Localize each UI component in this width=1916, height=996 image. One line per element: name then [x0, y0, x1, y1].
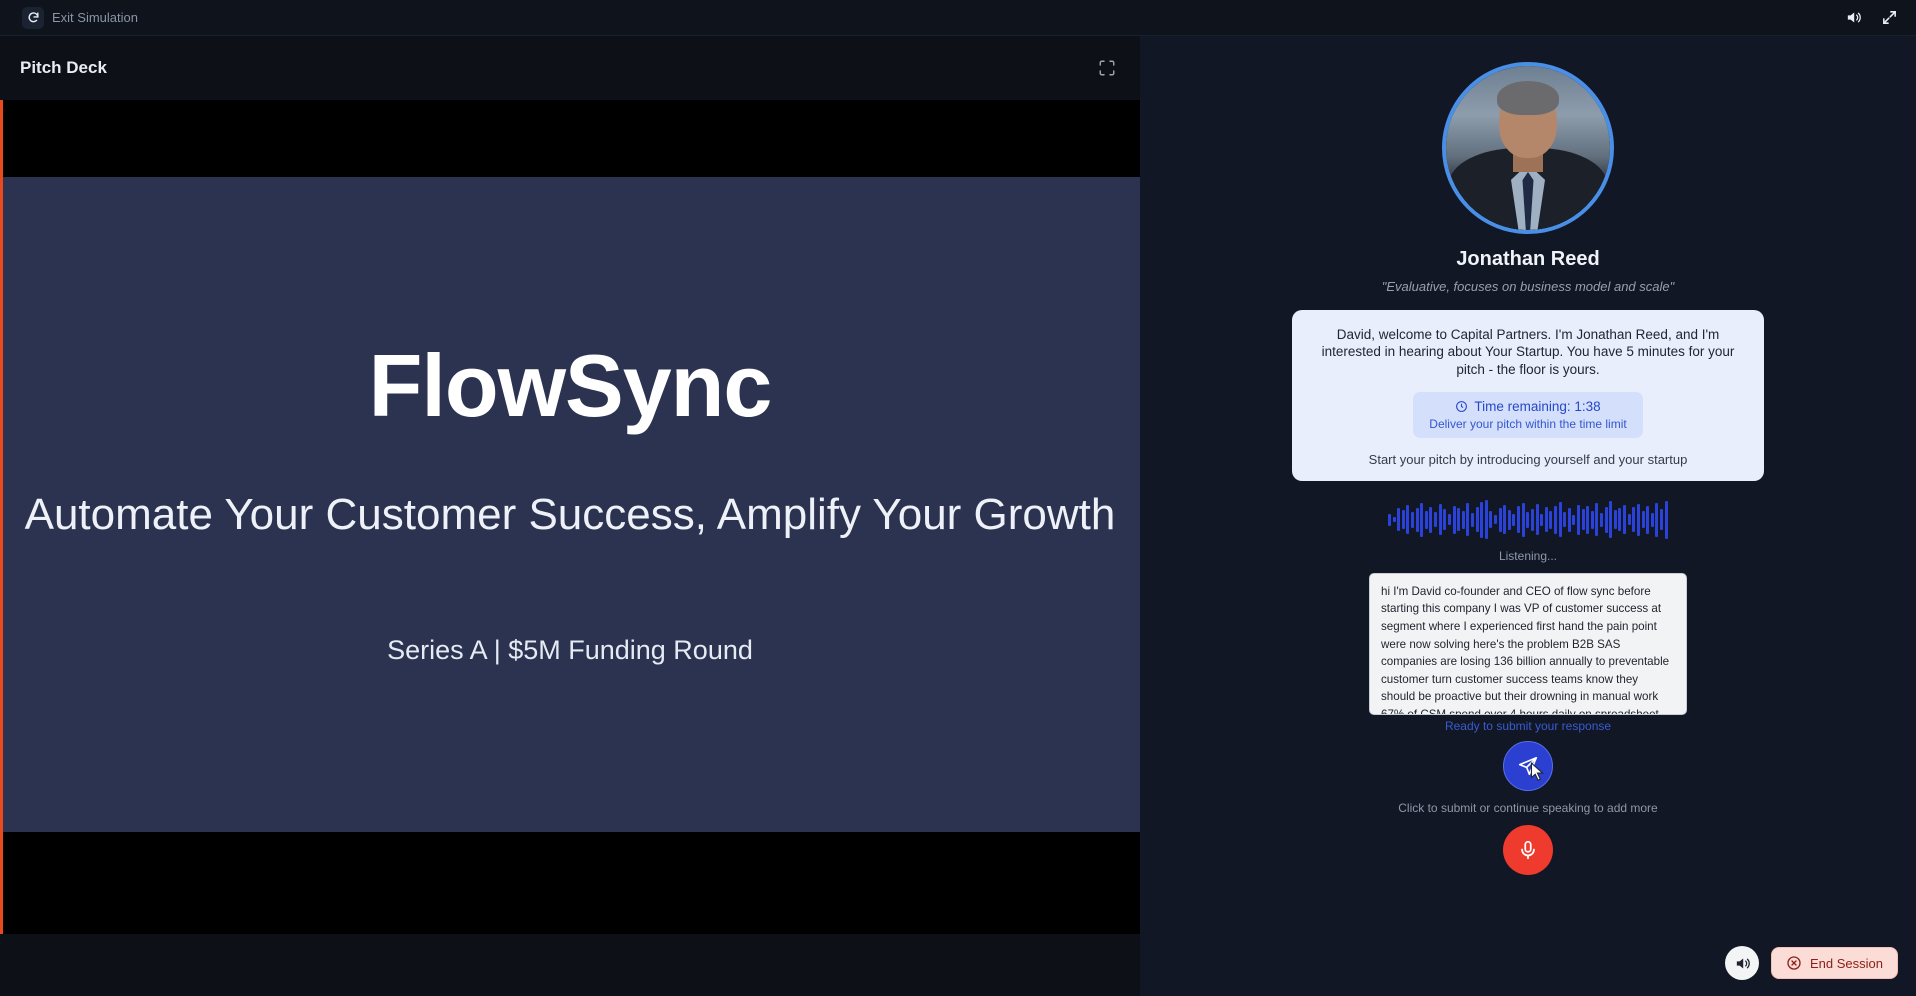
waveform-bar [1453, 506, 1456, 534]
waveform-bar [1591, 511, 1594, 529]
waveform-bar [1618, 508, 1621, 531]
waveform-bar [1485, 500, 1488, 539]
pitch-deck-header: Pitch Deck [0, 36, 1140, 100]
top-bar: Exit Simulation [0, 0, 1916, 36]
waveform-bar [1489, 511, 1492, 528]
waveform-bar [1660, 509, 1663, 530]
waveform-bar [1462, 511, 1465, 529]
waveform-bar [1572, 515, 1575, 525]
listening-status: Listening... [1499, 549, 1557, 563]
waveform-bar [1549, 511, 1552, 529]
slide-footer: Series A | $5M Funding Round [387, 635, 753, 666]
waveform-bar [1406, 505, 1409, 534]
waveform-bar [1531, 509, 1534, 531]
speaker-button[interactable] [1725, 946, 1759, 980]
waveform-bar [1540, 514, 1543, 526]
waveform-bar [1388, 514, 1391, 527]
waveform-bar [1642, 511, 1645, 528]
waveform-bar [1476, 507, 1479, 532]
waveform-bar [1559, 502, 1562, 537]
waveform-bar [1411, 512, 1414, 528]
interviewer-message: David, welcome to Capital Partners. I'm … [1312, 326, 1744, 378]
waveform-bar [1595, 503, 1598, 536]
slide-canvas: FlowSync Automate Your Customer Success,… [0, 177, 1140, 832]
waveform-bar [1614, 510, 1617, 529]
waveform-bar [1420, 503, 1423, 537]
waveform-bar [1623, 505, 1626, 534]
waveform-bar [1429, 507, 1432, 533]
slide-title: FlowSync [369, 342, 772, 430]
waveform-bar [1545, 507, 1548, 532]
waveform-bar [1605, 507, 1608, 533]
waveform-bar [1637, 504, 1640, 536]
waveform-bar [1397, 508, 1400, 531]
volume-icon[interactable] [1840, 5, 1866, 31]
waveform-bar [1526, 512, 1529, 528]
audio-waveform [1388, 497, 1668, 543]
end-session-label: End Session [1810, 956, 1883, 971]
waveform-bar [1600, 513, 1603, 526]
clock-icon [1455, 400, 1468, 413]
fullscreen-corners-icon[interactable] [1094, 55, 1120, 81]
interviewer-style-note: "Evaluative, focuses on business model a… [1382, 279, 1675, 294]
time-remaining-row: Time remaining: 1:38 [1455, 399, 1600, 414]
top-bar-actions [1840, 5, 1902, 31]
waveform-bar [1628, 514, 1631, 525]
microphone-button[interactable] [1503, 825, 1553, 875]
waveform-bar [1457, 508, 1460, 531]
waveform-bar [1499, 508, 1502, 532]
transcript-box[interactable]: hi I'm David co-founder and CEO of flow … [1369, 573, 1687, 715]
waveform-bar [1568, 508, 1571, 532]
waveform-bar [1577, 505, 1580, 535]
waveform-bar [1522, 503, 1525, 537]
avatar [1442, 62, 1614, 234]
waveform-bar [1480, 502, 1483, 538]
waveform-bar [1443, 509, 1446, 530]
avatar-hair [1497, 81, 1559, 115]
pitch-deck-panel: Pitch Deck FlowSync Automate Your Custom… [0, 36, 1140, 996]
waveform-bar [1536, 504, 1539, 535]
avatar-photo [1446, 66, 1610, 230]
ready-to-submit-label: Ready to submit your response [1445, 719, 1611, 733]
waveform-bar [1512, 514, 1515, 527]
interviewer-name: Jonathan Reed [1456, 248, 1599, 271]
waveform-bar [1651, 513, 1654, 527]
pitch-prompt: Start your pitch by introducing yourself… [1369, 452, 1688, 467]
waveform-bar [1439, 504, 1442, 535]
waveform-bar [1582, 509, 1585, 530]
waveform-bar [1434, 512, 1437, 527]
waveform-bar [1632, 507, 1635, 532]
waveform-bar [1393, 517, 1396, 522]
time-remaining-label: Time remaining: 1:38 [1474, 399, 1600, 414]
page-title: Pitch Deck [20, 58, 107, 78]
waveform-bar [1402, 510, 1405, 529]
waveform-bar [1655, 503, 1658, 537]
waveform-bar [1448, 514, 1451, 525]
slide-accent-bar [0, 100, 3, 934]
waveform-bar [1416, 508, 1419, 532]
interview-panel: Jonathan Reed "Evaluative, focuses on bu… [1140, 36, 1916, 996]
waveform-bar [1471, 513, 1474, 527]
waveform-bar [1665, 501, 1668, 539]
waveform-bar [1494, 515, 1497, 524]
waveform-bar [1503, 505, 1506, 534]
waveform-bar [1425, 511, 1428, 529]
interviewer-message-card: David, welcome to Capital Partners. I'm … [1292, 310, 1764, 481]
session-controls: End Session [1725, 946, 1898, 980]
send-hint-label: Click to submit or continue speaking to … [1398, 801, 1657, 815]
slide-subtitle: Automate Your Customer Success, Amplify … [25, 490, 1116, 540]
send-response-button[interactable] [1503, 741, 1553, 791]
waveform-bar [1508, 510, 1511, 530]
exit-simulation-label: Exit Simulation [52, 10, 138, 25]
waveform-bar [1466, 503, 1469, 536]
refresh-icon [22, 7, 44, 29]
speaker-icon [1734, 955, 1751, 972]
end-session-button[interactable]: End Session [1771, 947, 1898, 979]
close-circle-icon [1786, 955, 1802, 971]
exit-simulation-button[interactable]: Exit Simulation [14, 3, 146, 33]
waveform-bar [1646, 506, 1649, 535]
expand-icon[interactable] [1876, 5, 1902, 31]
waveform-bar [1609, 501, 1612, 538]
waveform-bar [1586, 506, 1589, 534]
waveform-bar [1554, 506, 1557, 535]
time-remaining-hint: Deliver your pitch within the time limit [1429, 417, 1626, 431]
slide-viewer[interactable]: FlowSync Automate Your Customer Success,… [0, 100, 1140, 934]
waveform-bar [1517, 506, 1520, 533]
waveform-bar [1563, 512, 1566, 527]
time-remaining-badge: Time remaining: 1:38 Deliver your pitch … [1413, 392, 1642, 438]
